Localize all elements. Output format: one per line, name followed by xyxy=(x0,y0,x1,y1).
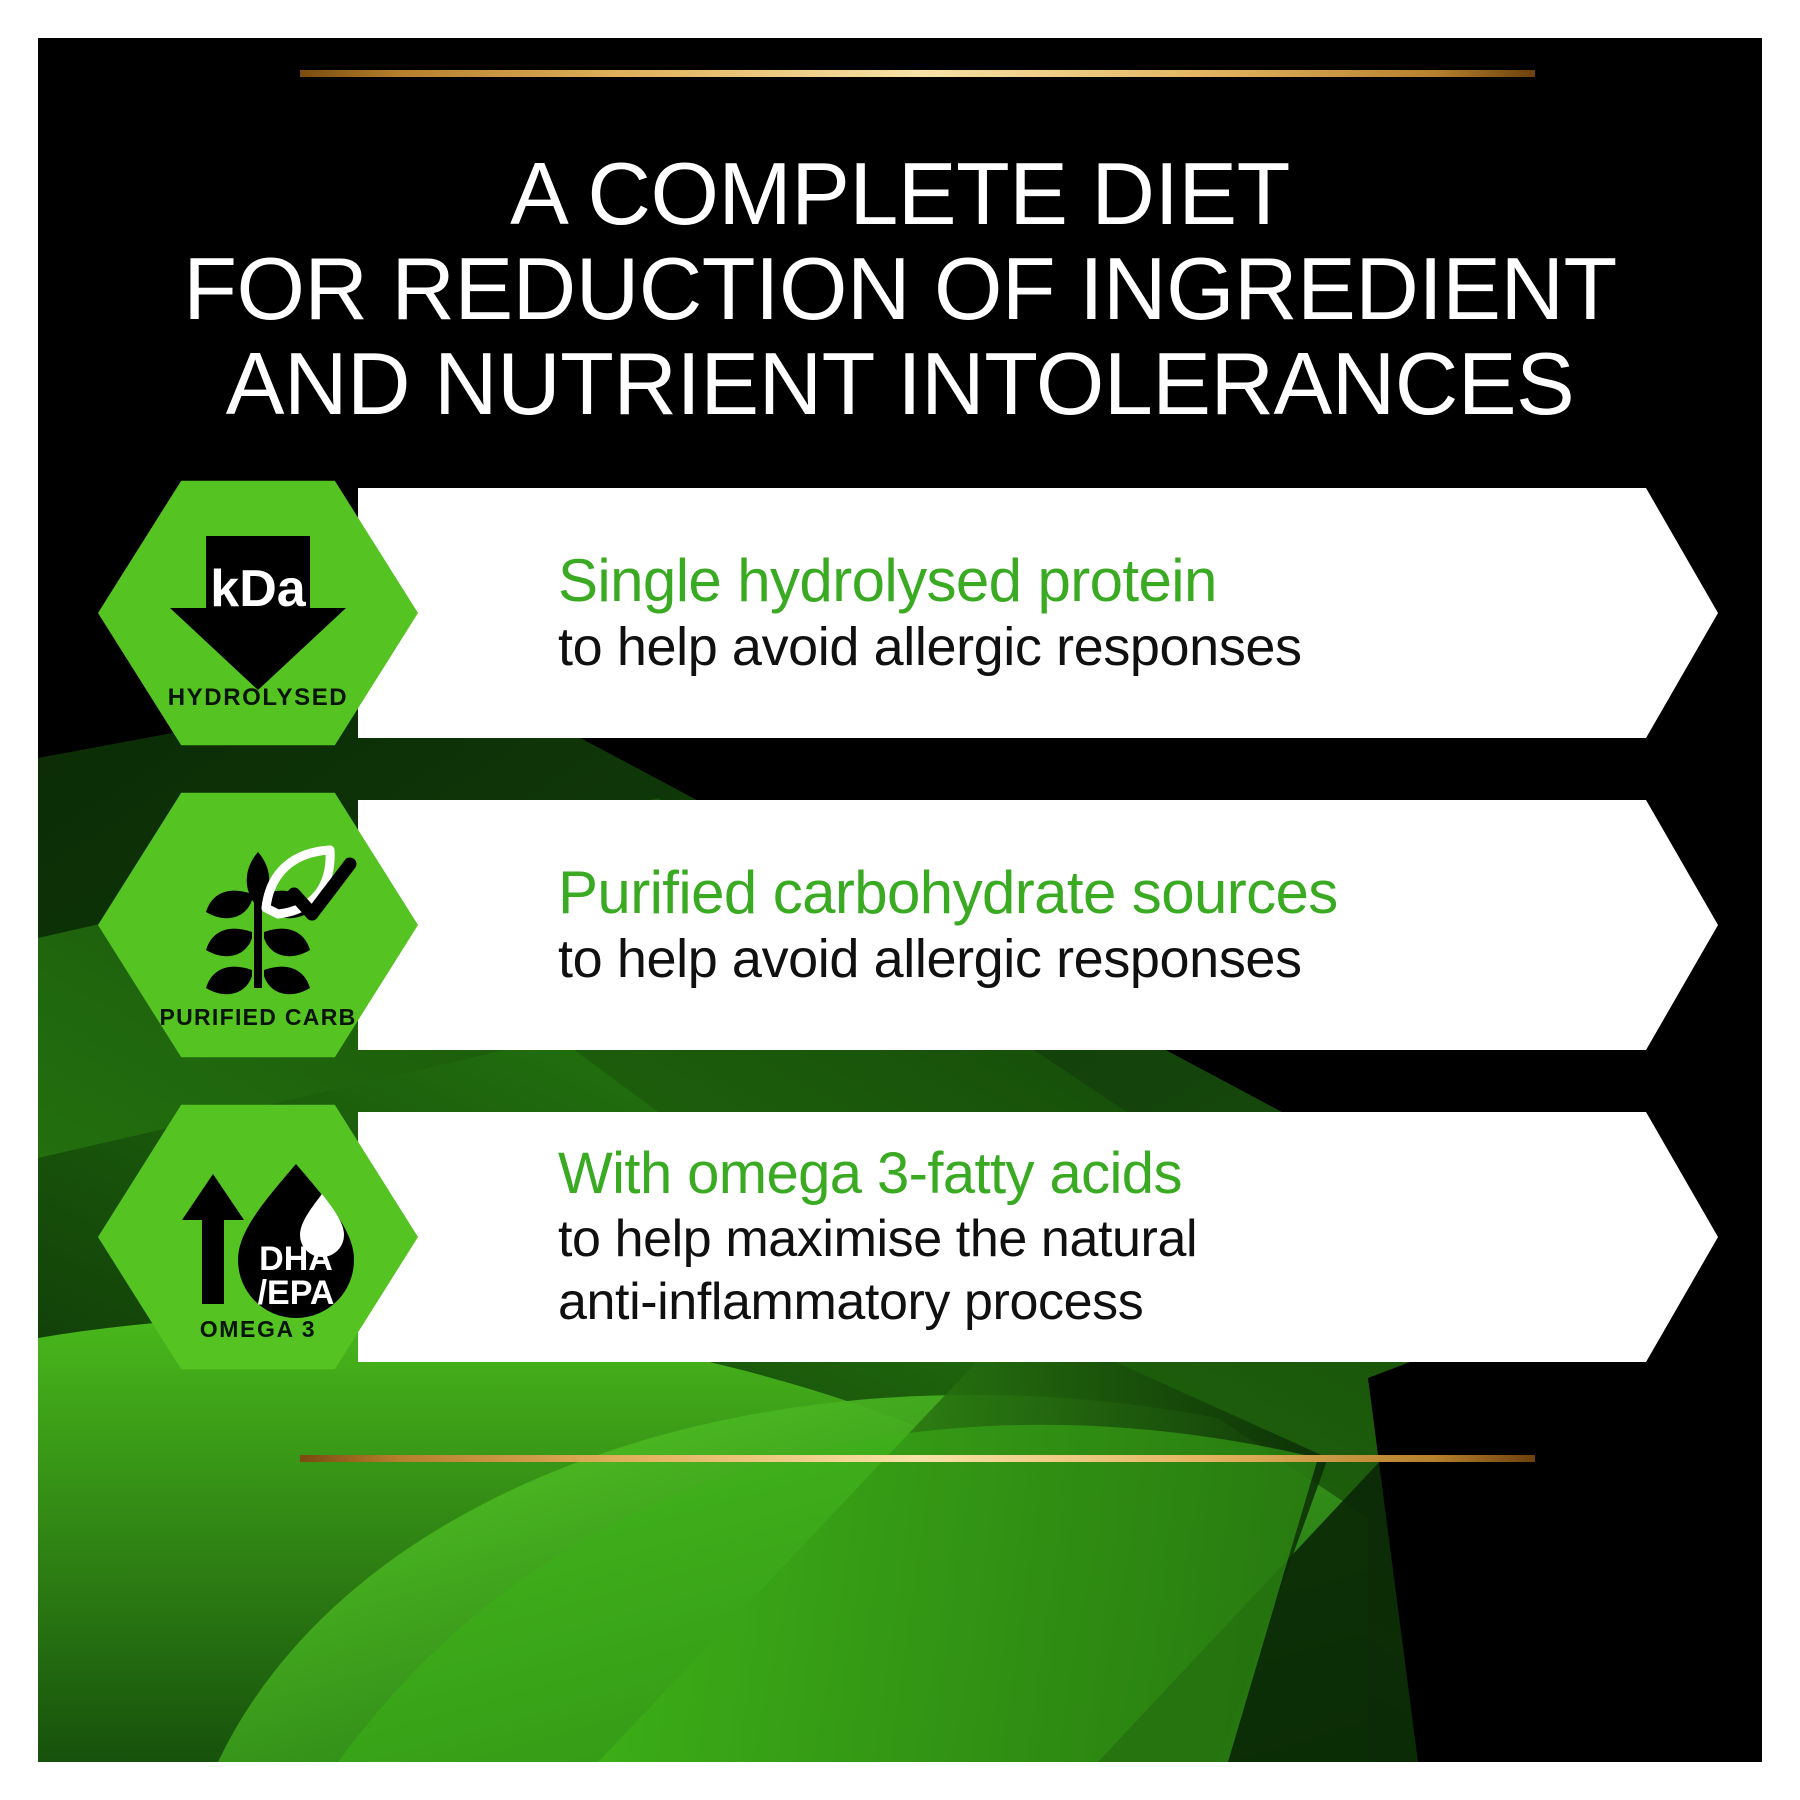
benefit-subtitle: to help avoid allergic responses xyxy=(558,930,1718,989)
benefit-row-omega-3: With omega 3-fatty acids to help maximis… xyxy=(98,1102,1718,1372)
badge-hydrolysed: kDa HYDROLYSED xyxy=(98,478,418,748)
headline-line-1: A COMPLETE DIET xyxy=(38,146,1762,241)
poster-root: A COMPLETE DIET FOR REDUCTION OF INGREDI… xyxy=(0,0,1800,1800)
benefit-title: With omega 3-fatty acids xyxy=(558,1143,1718,1204)
headline-line-2: FOR REDUCTION OF INGREDIENT xyxy=(38,241,1762,336)
badge-omega-3: DHA /EPA OMEGA 3 xyxy=(98,1102,418,1372)
benefit-banner: With omega 3-fatty acids to help maximis… xyxy=(358,1112,1718,1362)
svg-text:DHA: DHA xyxy=(259,1240,333,1278)
benefit-row-purified-carb: Purified carbohydrate sources to help av… xyxy=(98,790,1718,1060)
badge-caption: PURIFIED CARB xyxy=(98,1004,418,1031)
benefit-banner: Purified carbohydrate sources to help av… xyxy=(358,800,1718,1050)
benefit-title: Purified carbohydrate sources xyxy=(558,861,1718,925)
black-panel: A COMPLETE DIET FOR REDUCTION OF INGREDI… xyxy=(38,38,1762,1762)
gold-rule-bottom xyxy=(300,1455,1535,1462)
svg-text:/EPA: /EPA xyxy=(258,1274,335,1312)
benefit-title: Single hydrolysed protein xyxy=(558,549,1718,613)
page-title: A COMPLETE DIET FOR REDUCTION OF INGREDI… xyxy=(38,146,1762,431)
badge-purified-carb: PURIFIED CARB xyxy=(98,790,418,1060)
benefit-subtitle-line-2: anti-inflammatory process xyxy=(558,1274,1718,1331)
badge-caption: HYDROLYSED xyxy=(98,684,418,712)
benefit-subtitle: to help avoid allergic responses xyxy=(558,618,1718,677)
benefit-row-hydrolysed: Single hydrolysed protein to help avoid … xyxy=(98,478,1718,748)
benefit-subtitle-line-1: to help maximise the natural xyxy=(558,1211,1718,1268)
benefit-banner: Single hydrolysed protein to help avoid … xyxy=(358,488,1718,738)
badge-caption: OMEGA 3 xyxy=(98,1316,418,1343)
headline-line-3: AND NUTRIENT INTOLERANCES xyxy=(38,336,1762,431)
gold-rule-top xyxy=(300,70,1535,77)
svg-text:kDa: kDa xyxy=(210,560,306,618)
